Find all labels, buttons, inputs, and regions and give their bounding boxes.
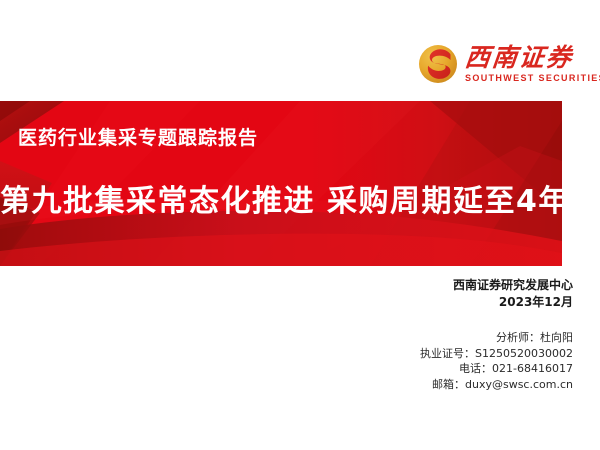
swirl-circle-icon [418,44,458,84]
research-center-name: 西南证券研究发展中心 [453,277,573,294]
logo-name-cn: 西南证券 [464,45,600,71]
publication-date: 2023年12月 [453,294,573,311]
analyst-name: 分析师：杜向阳 [420,330,573,346]
banner-text-layer: 医药行业集采专题跟踪报告 第九批集采常态化推进 采购周期延至4年 [0,101,562,266]
company-logo: 西南证券 SOUTHWEST SECURITIES [418,38,586,90]
analyst-license-number: 执业证号：S1250520030002 [420,346,573,362]
report-series-subtitle: 医药行业集采专题跟踪报告 [18,129,258,148]
logo-wordmark: 西南证券 SOUTHWEST SECURITIES [465,44,600,84]
publisher-block: 西南证券研究发展中心 2023年12月 [453,277,573,311]
logo-name-en: SOUTHWEST SECURITIES [465,73,600,84]
analyst-email: 邮箱：duxy@swsc.com.cn [420,377,573,393]
report-cover-page: 西南证券 SOUTHWEST SECURITIES [0,0,600,450]
analyst-phone: 电话：021-68416017 [420,361,573,377]
title-banner: 医药行业集采专题跟踪报告 第九批集采常态化推进 采购周期延至4年 [0,101,562,266]
report-main-title: 第九批集采常态化推进 采购周期延至4年 [0,187,562,217]
analyst-contact-block: 分析师：杜向阳 执业证号：S1250520030002 电话：021-68416… [420,330,573,392]
